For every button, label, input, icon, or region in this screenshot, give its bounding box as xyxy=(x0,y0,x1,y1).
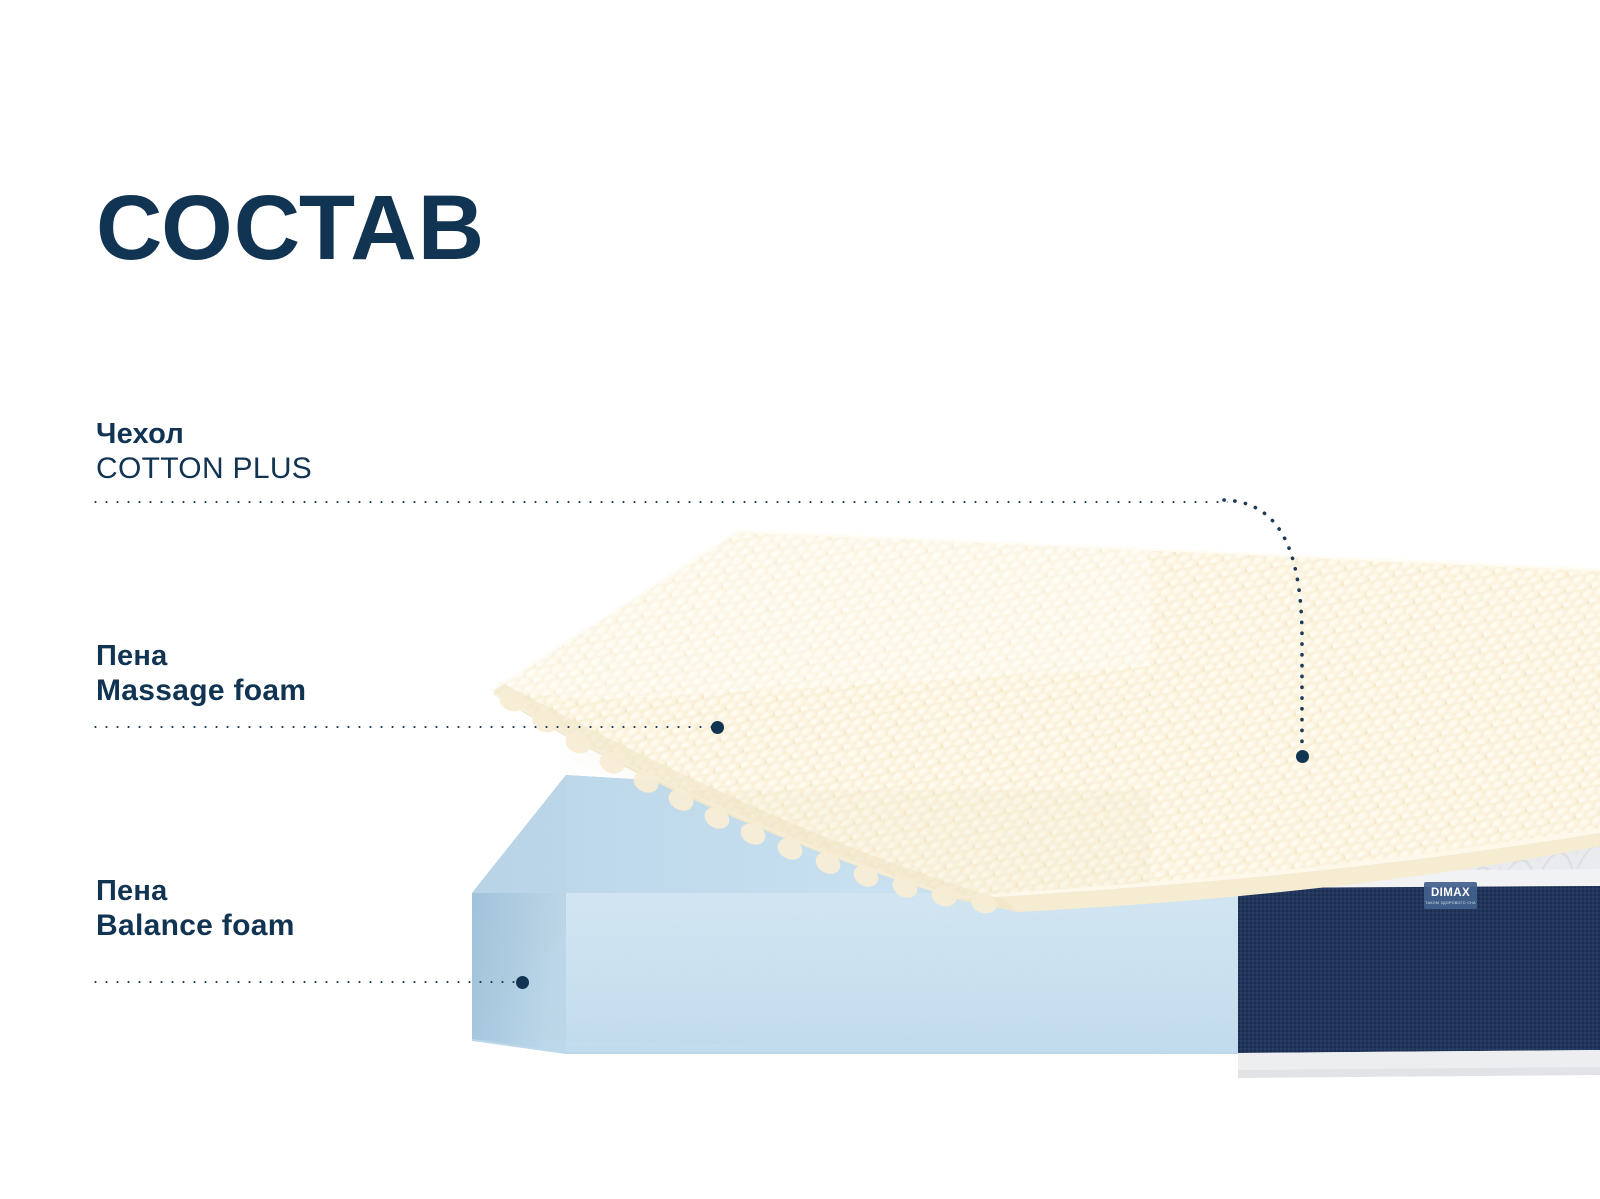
callout-balance-foam: Пена Balance foam xyxy=(96,874,295,944)
svg-text:ТАКОМ ЗДОРОВОГО СНА: ТАКОМ ЗДОРОВОГО СНА xyxy=(1425,901,1476,905)
callout-cover-line1: Чехол xyxy=(96,417,312,451)
callout-massage-line1: Пена xyxy=(96,639,306,673)
callout-balance-line1: Пена xyxy=(96,874,295,908)
leader-endpoint-balance xyxy=(516,976,529,989)
leader-line-massage xyxy=(90,725,712,729)
dimax-logo-badge: DIMAX ТАКОМ ЗДОРОВОГО СНА xyxy=(1424,882,1477,909)
callout-cover-line2: COTTON PLUS xyxy=(96,451,312,486)
leader-endpoint-cover xyxy=(1296,750,1309,763)
svg-text:DIMAX: DIMAX xyxy=(1431,887,1470,899)
callout-balance-line2: Balance foam xyxy=(96,908,295,943)
callout-massage-foam: Пена Massage foam xyxy=(96,639,306,709)
leader-endpoint-massage xyxy=(711,721,724,734)
composition-infographic: DIMAX ТАКОМ ЗДОРОВОГО СНА xyxy=(0,0,1600,1199)
page-title: СОСТАВ xyxy=(96,182,485,274)
leader-line-cover xyxy=(90,500,1228,504)
callout-massage-line2: Massage foam xyxy=(96,673,306,708)
callout-cover: Чехол COTTON PLUS xyxy=(96,417,312,487)
leader-line-balance xyxy=(90,980,518,984)
